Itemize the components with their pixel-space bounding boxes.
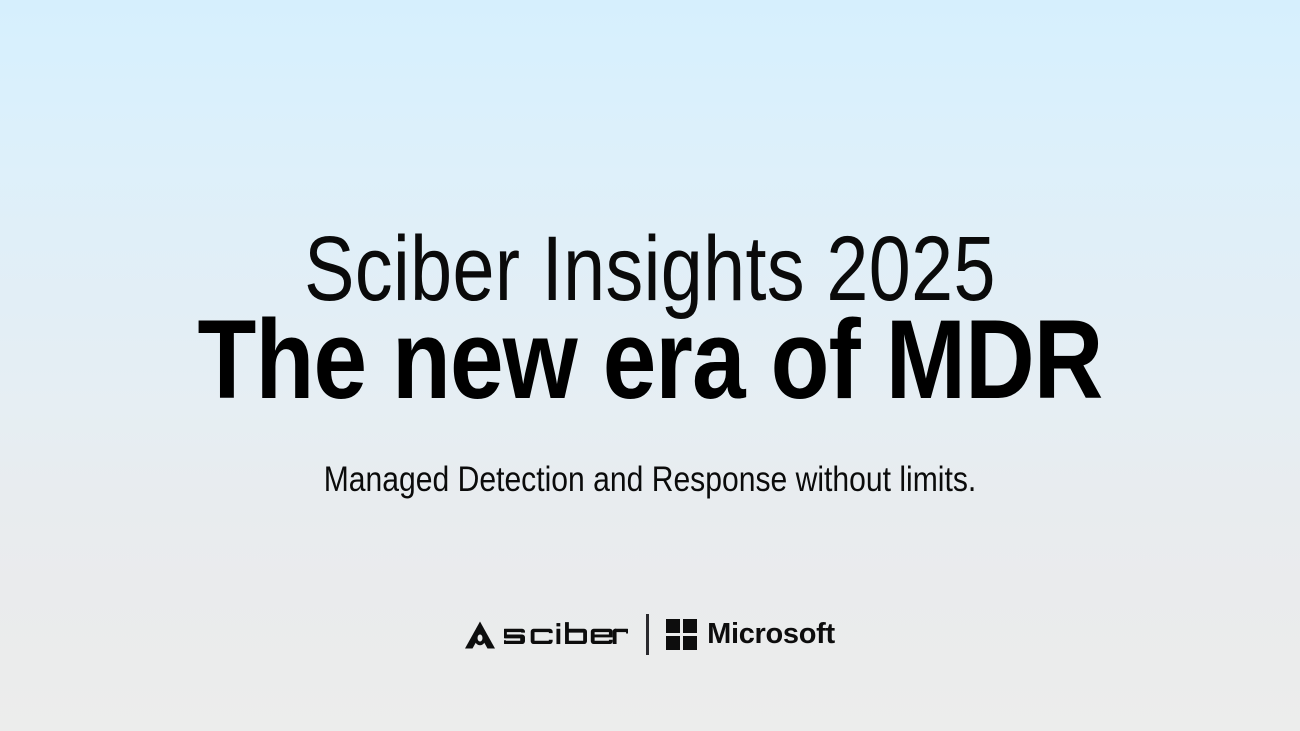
logo-lockup: Microsoft [0,614,1300,655]
microsoft-logo: Microsoft [666,619,835,650]
microsoft-square-top-right [683,619,697,633]
microsoft-square-bottom-right [683,636,697,650]
slide-subtitle: Managed Detection and Response without l… [91,462,1209,499]
microsoft-wordmark: Microsoft [707,620,835,649]
sciber-wordmark [504,621,628,648]
sciber-logo [465,621,628,649]
microsoft-square-bottom-left [666,636,680,650]
page-title: The new era of MDR [91,313,1209,407]
logo-divider [646,614,649,655]
slide-eyebrow-title: Sciber Insights 2025 [117,232,1183,307]
sciber-triangle-mark [465,621,495,649]
title-slide: Sciber Insights 2025 The new era of MDR … [0,0,1300,731]
microsoft-square-top-left [666,619,680,633]
headline-block: Sciber Insights 2025 The new era of MDR [0,232,1300,408]
microsoft-four-square-logo [666,619,697,650]
